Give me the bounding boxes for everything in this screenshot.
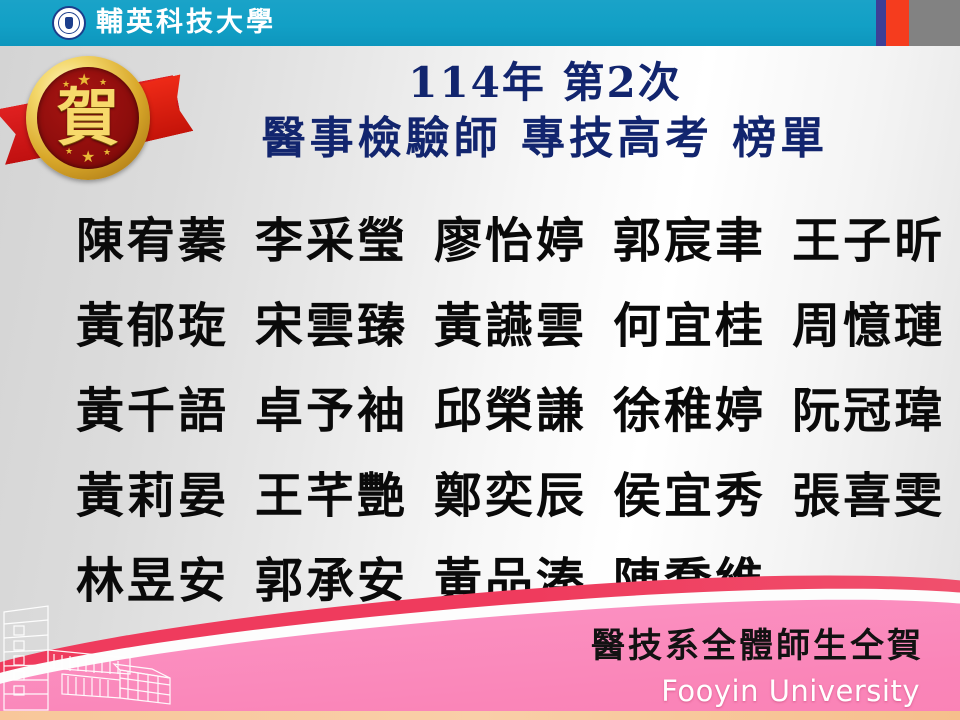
passer-name: 鄭奕辰 [434,472,587,520]
header-blue-stripe [876,0,886,46]
passer-name: 宋雲臻 [255,302,408,350]
name-row: 黃千語 卓予袖 邱榮謙 徐稚婷 阮冠瑋 [76,368,916,453]
university-seal-icon [52,6,86,40]
slide-canvas: 輔英科技大學 ★ ★ ★ ★ ★ ★ 賀 114年 第2次 醫事檢驗師 專技高考… [0,0,960,720]
name-row: 陳宥蓁 李采瑩 廖怡婷 郭宸聿 王子昕 [76,198,916,283]
title-line-1: 114年 第2次 [150,56,940,110]
gold-medal-icon: ★ ★ ★ ★ ★ ★ 賀 [26,56,150,180]
footer-peach-strip [0,711,960,720]
name-row: 黃莉晏 王芊艷 鄭奕辰 侯宜秀 張喜雯 [76,453,916,538]
title-line-2: 醫事檢驗師 專技高考 榜單 [150,110,940,168]
passer-name: 廖怡婷 [434,217,587,265]
title-block: 114年 第2次 醫事檢驗師 專技高考 榜單 [150,56,940,168]
header-gray-block [909,0,960,46]
passer-name: 周憶璉 [792,302,945,350]
campus-building-icon [2,598,202,718]
university-name-label: 輔英科技大學 [96,3,276,43]
header-red-stripe [886,0,909,46]
passer-name: 陳宥蓁 [76,217,229,265]
passer-name: 卓予袖 [255,387,408,435]
medal-character: 賀 [37,67,139,169]
university-english-name: Fooyin University [661,674,920,708]
passer-name: 侯宜秀 [613,472,766,520]
passer-name: 黃莉晏 [76,472,229,520]
passer-name: 邱榮謙 [434,387,587,435]
passer-name: 王芊艷 [255,472,408,520]
passer-name: 張喜雯 [792,472,945,520]
passer-name: 黃郁琁 [76,302,229,350]
passer-name: 郭宸聿 [613,217,766,265]
passer-name: 阮冠瑋 [792,387,945,435]
passer-name: 黃千語 [76,387,229,435]
medal-inner-face: ★ ★ ★ ★ ★ ★ 賀 [37,67,139,169]
passer-name: 黃讌雲 [434,302,587,350]
passer-name: 徐稚婷 [613,387,766,435]
passer-name: 何宜桂 [613,302,766,350]
department-credit-label: 醫技系全體師生仝賀 [591,618,924,667]
passer-name: 李采瑩 [255,217,408,265]
name-row: 黃郁琁 宋雲臻 黃讌雲 何宜桂 周憶璉 [76,283,916,368]
passer-name: 王子昕 [792,217,945,265]
